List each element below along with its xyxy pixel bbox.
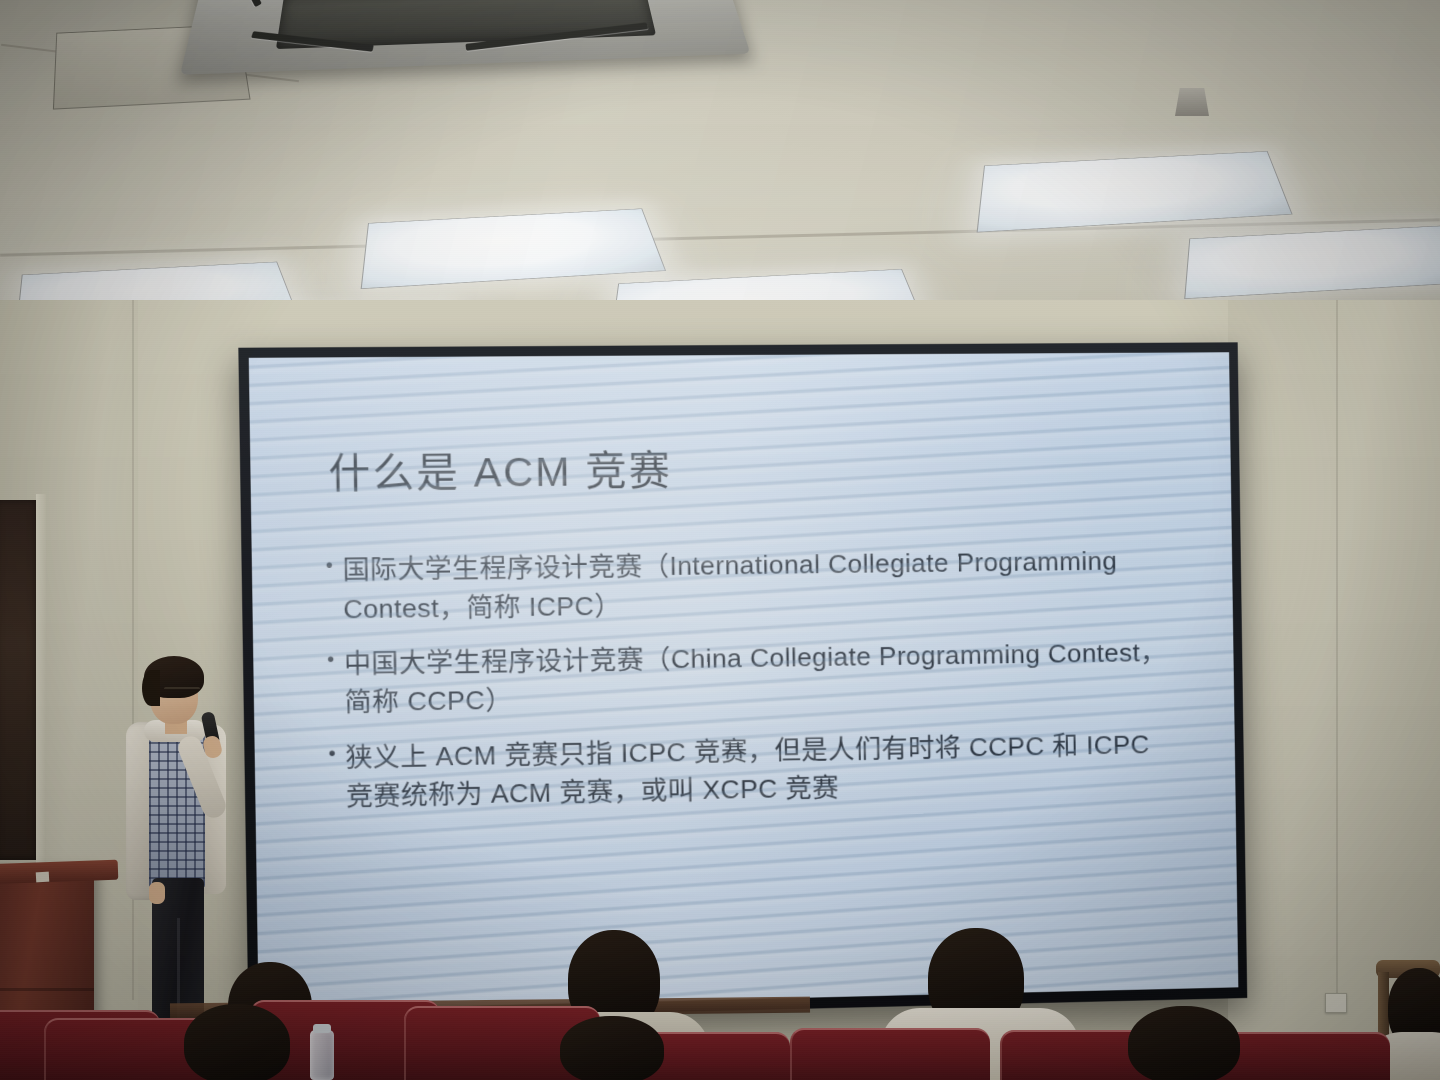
audience-member: [1128, 1006, 1240, 1080]
ceiling-seam: [1, 44, 299, 83]
slide-title: 什么是 ACM 竞赛: [328, 443, 1175, 498]
ceiling-speaker: [1175, 88, 1209, 116]
slide-bullet-text: 中国大学生程序设计竞赛（China Collegiate Programming…: [344, 633, 1174, 722]
ac-vane: [465, 22, 648, 50]
wall-light-switch[interactable]: [1325, 993, 1347, 1013]
ceiling-seam: [0, 218, 1440, 256]
door-jamb: [36, 494, 46, 866]
seat-piping: [790, 1028, 990, 1080]
projection-screen-frame: 什么是 ACM 竞赛 • 国际大学生程序设计竞赛（International C…: [238, 342, 1247, 1022]
doorway: [0, 500, 40, 860]
slide-bullet-item: • 国际大学生程序设计竞赛（International Collegiate P…: [325, 541, 1176, 628]
presenter-hand: [149, 882, 165, 904]
bullet-dot-icon: •: [325, 552, 333, 581]
led-panel-light: [977, 151, 1293, 232]
ceiling-tile: [53, 24, 251, 109]
presenter-hair-side: [142, 670, 160, 706]
bullet-dot-icon: •: [328, 740, 336, 769]
slide-bullet-item: • 狭义上 ACM 竞赛只指 ICPC 竞赛，但是人们有时将 CCPC 和 IC…: [328, 725, 1179, 817]
presentation-slide: 什么是 ACM 竞赛 • 国际大学生程序设计竞赛（International C…: [249, 352, 1239, 1011]
led-panel-light: [361, 208, 666, 289]
slide-bullet-text: 狭义上 ACM 竞赛只指 ICPC 竞赛，但是人们有时将 CCPC 和 ICPC…: [345, 725, 1175, 816]
presenter-with-microphone: [118, 650, 250, 1030]
ac-vane: [233, 0, 262, 7]
projection-screen: 什么是 ACM 竞赛 • 国际大学生程序设计竞赛（International C…: [249, 352, 1239, 1011]
audience-member: [184, 1004, 290, 1080]
bullet-dot-icon: •: [327, 646, 335, 675]
slide-bullet-list: • 国际大学生程序设计竞赛（International Collegiate P…: [325, 541, 1179, 816]
lecture-hall-photo: 什么是 ACM 竞赛 • 国际大学生程序设计竞赛（International C…: [0, 0, 1440, 1080]
ac-grille: [276, 0, 656, 49]
glasses-icon: [164, 687, 200, 696]
wall-seam: [1336, 300, 1338, 1000]
water-bottle: [310, 1030, 334, 1080]
audience-member: [560, 1016, 664, 1080]
ceiling-cassette-air-conditioner: [180, 0, 751, 75]
slide-bullet-text: 国际大学生程序设计竞赛（International Collegiate Pro…: [342, 541, 1172, 628]
water-bottle-cap: [313, 1024, 331, 1033]
podium-paper: [36, 872, 50, 883]
ac-vane: [251, 31, 374, 52]
podium-edge: [0, 988, 94, 991]
led-panel-light: [1184, 225, 1440, 299]
slide-bullet-item: • 中国大学生程序设计竞赛（China Collegiate Programmi…: [327, 633, 1178, 722]
